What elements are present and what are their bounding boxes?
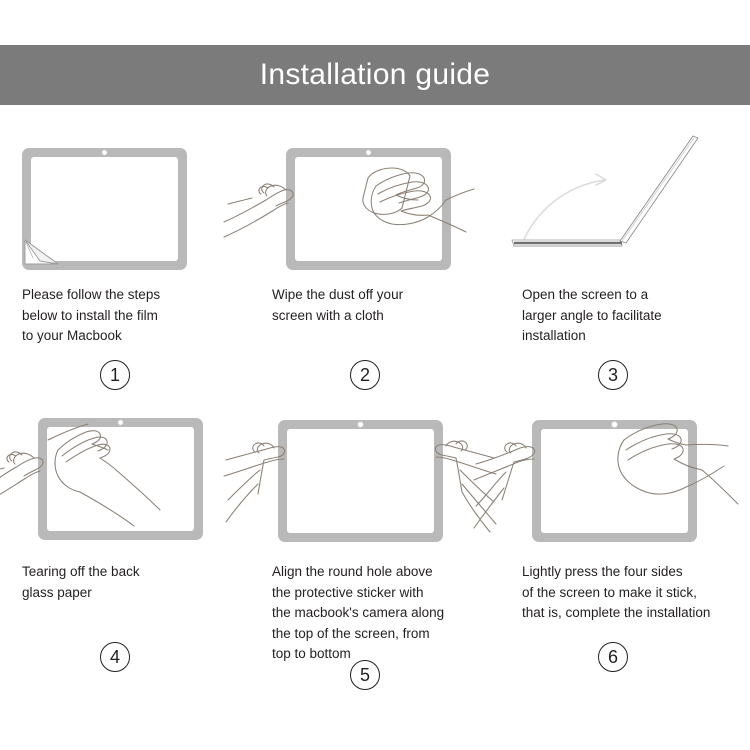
- laptop-lid-icon: [620, 136, 698, 243]
- laptop-base-icon: [512, 240, 622, 246]
- step-6-illustration: [500, 410, 750, 550]
- step-3-illustration: [500, 130, 750, 270]
- step-card-3: Open the screen to a larger angle to fac…: [500, 130, 750, 410]
- step-1-number: 1: [100, 360, 130, 390]
- step-3-caption: Open the screen to a larger angle to fac…: [522, 285, 737, 347]
- step-4-number: 4: [100, 642, 130, 672]
- left-pinching-hand-icon: [0, 452, 43, 508]
- step-2-illustration: [250, 130, 500, 270]
- right-hand-icon: [435, 441, 496, 532]
- installation-guide-page: Installation guide: [0, 0, 750, 750]
- screen-device-icon: [278, 420, 443, 542]
- open-lid-arrow-icon: [522, 174, 606, 244]
- step-5-caption: Align the round hole above the protectiv…: [272, 562, 487, 665]
- step-2-number: 2: [350, 360, 380, 390]
- screen-device-icon: [22, 148, 187, 270]
- step-card-6: Lightly press the four sides of the scre…: [500, 410, 750, 710]
- step-card-5: Align the round hole above the protectiv…: [250, 410, 500, 710]
- screen-device-icon: [38, 418, 203, 540]
- step-5-illustration: [250, 410, 500, 550]
- screen-device-icon: [286, 148, 451, 270]
- step-2-caption: Wipe the dust off your screen with a clo…: [272, 285, 487, 326]
- step-card-2: Wipe the dust off your screen with a clo…: [250, 130, 500, 410]
- step-card-4: Tearing off the back glass paper 4: [0, 410, 250, 710]
- screen-device-icon: [532, 420, 697, 542]
- step-card-1: Please follow the steps below to install…: [0, 130, 250, 410]
- header-banner: Installation guide: [0, 45, 750, 105]
- page-title: Installation guide: [260, 60, 491, 90]
- step-1-illustration: [0, 130, 250, 270]
- step-5-number: 5: [350, 660, 380, 690]
- step-4-caption: Tearing off the back glass paper: [22, 562, 237, 603]
- step-3-number: 3: [598, 360, 628, 390]
- step-1-caption: Please follow the steps below to install…: [22, 285, 237, 347]
- step-6-number: 6: [598, 642, 628, 672]
- step-6-caption: Lightly press the four sides of the scre…: [522, 562, 737, 624]
- steps-grid: Please follow the steps below to install…: [0, 130, 750, 730]
- step-4-illustration: [0, 410, 250, 550]
